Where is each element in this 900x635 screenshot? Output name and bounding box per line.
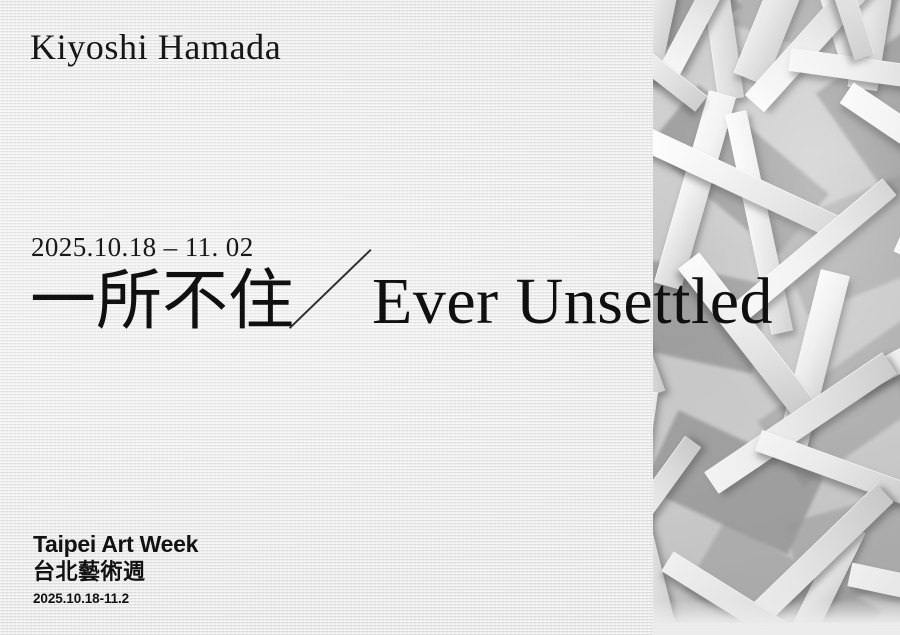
exhibition-poster: Kiyoshi Hamada 2025.10.18 – 11. 02 一所不住 …: [0, 0, 900, 635]
exhibition-date-range: 2025.10.18 – 11. 02: [31, 232, 254, 263]
exhibition-title: 一所不住 Ever Unsettled: [30, 268, 773, 335]
title-slash-divider: [294, 322, 372, 323]
festival-dates: 2025.10.18-11.2: [33, 591, 198, 607]
festival-logo: Taipei Art Week 台北藝術週 2025.10.18-11.2: [33, 531, 198, 607]
title-english: Ever Unsettled: [372, 269, 773, 335]
festival-name-english: Taipei Art Week: [33, 531, 198, 557]
artist-name: Kiyoshi Hamada: [30, 26, 281, 69]
festival-name-chinese: 台北藝術週: [33, 560, 198, 586]
title-chinese: 一所不住: [30, 268, 294, 334]
